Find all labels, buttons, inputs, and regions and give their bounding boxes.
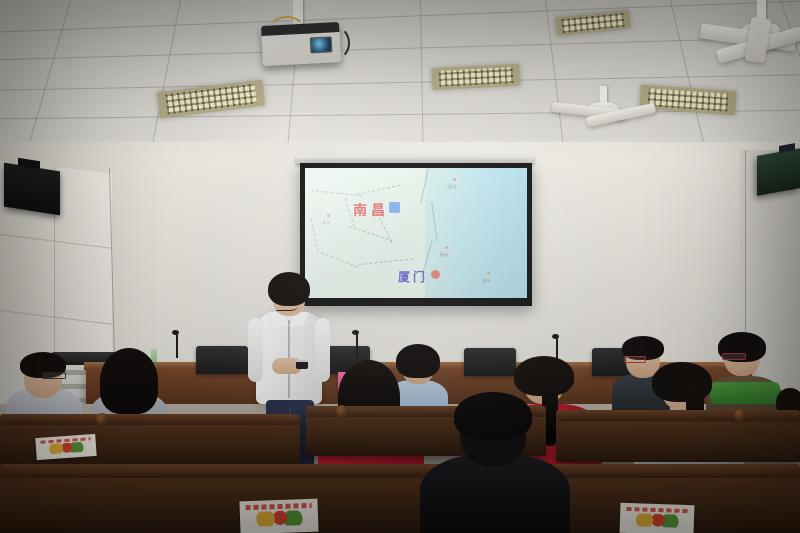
speaker-right (757, 148, 800, 196)
projected-slide: 长沙 武汉 福州 温州 南昌 厦门 (305, 168, 527, 298)
projector-power-cable (320, 26, 350, 60)
bench-rail (0, 414, 300, 425)
attendee-dark-foreground (420, 392, 570, 533)
booklet (619, 503, 694, 533)
microphone-head (172, 330, 179, 335)
glasses-icon (722, 353, 746, 360)
map-label-xiamen: 厦门 (398, 268, 428, 285)
microphone-stem (356, 332, 358, 358)
booklet (239, 499, 318, 533)
bench-rail (0, 464, 800, 478)
lecture-hall-photo: 长沙 武汉 福州 温州 南昌 厦门 (0, 0, 800, 533)
projection-screen: 长沙 武汉 福州 温州 南昌 厦门 (300, 163, 532, 306)
map-marker-nanchang (389, 202, 400, 213)
podium-chair (196, 346, 248, 374)
glasses-icon (42, 372, 66, 379)
microphone-stem (176, 332, 178, 358)
bench-rail (556, 410, 800, 421)
map-city-dot (327, 214, 330, 217)
microphone-head (352, 330, 359, 335)
map-sea (425, 168, 527, 298)
headset-microphone-icon (276, 300, 298, 311)
map-city-dot (453, 178, 456, 181)
bench-knob (336, 405, 348, 417)
bench-knob (734, 409, 746, 421)
microphone-head (552, 334, 559, 339)
bench-knob (96, 413, 108, 425)
projector-cable (268, 16, 306, 46)
presenter-arm (248, 318, 263, 382)
map-marker-xiamen (431, 270, 440, 279)
bench-desk (556, 420, 800, 462)
map-label-nanchang: 南昌 (353, 200, 389, 220)
map-city-dot (487, 272, 490, 275)
speaker-left (4, 163, 60, 216)
map-city-dot (445, 246, 448, 249)
booklet (35, 434, 96, 460)
wristwatch-icon (296, 360, 308, 369)
ceiling (0, 0, 800, 160)
